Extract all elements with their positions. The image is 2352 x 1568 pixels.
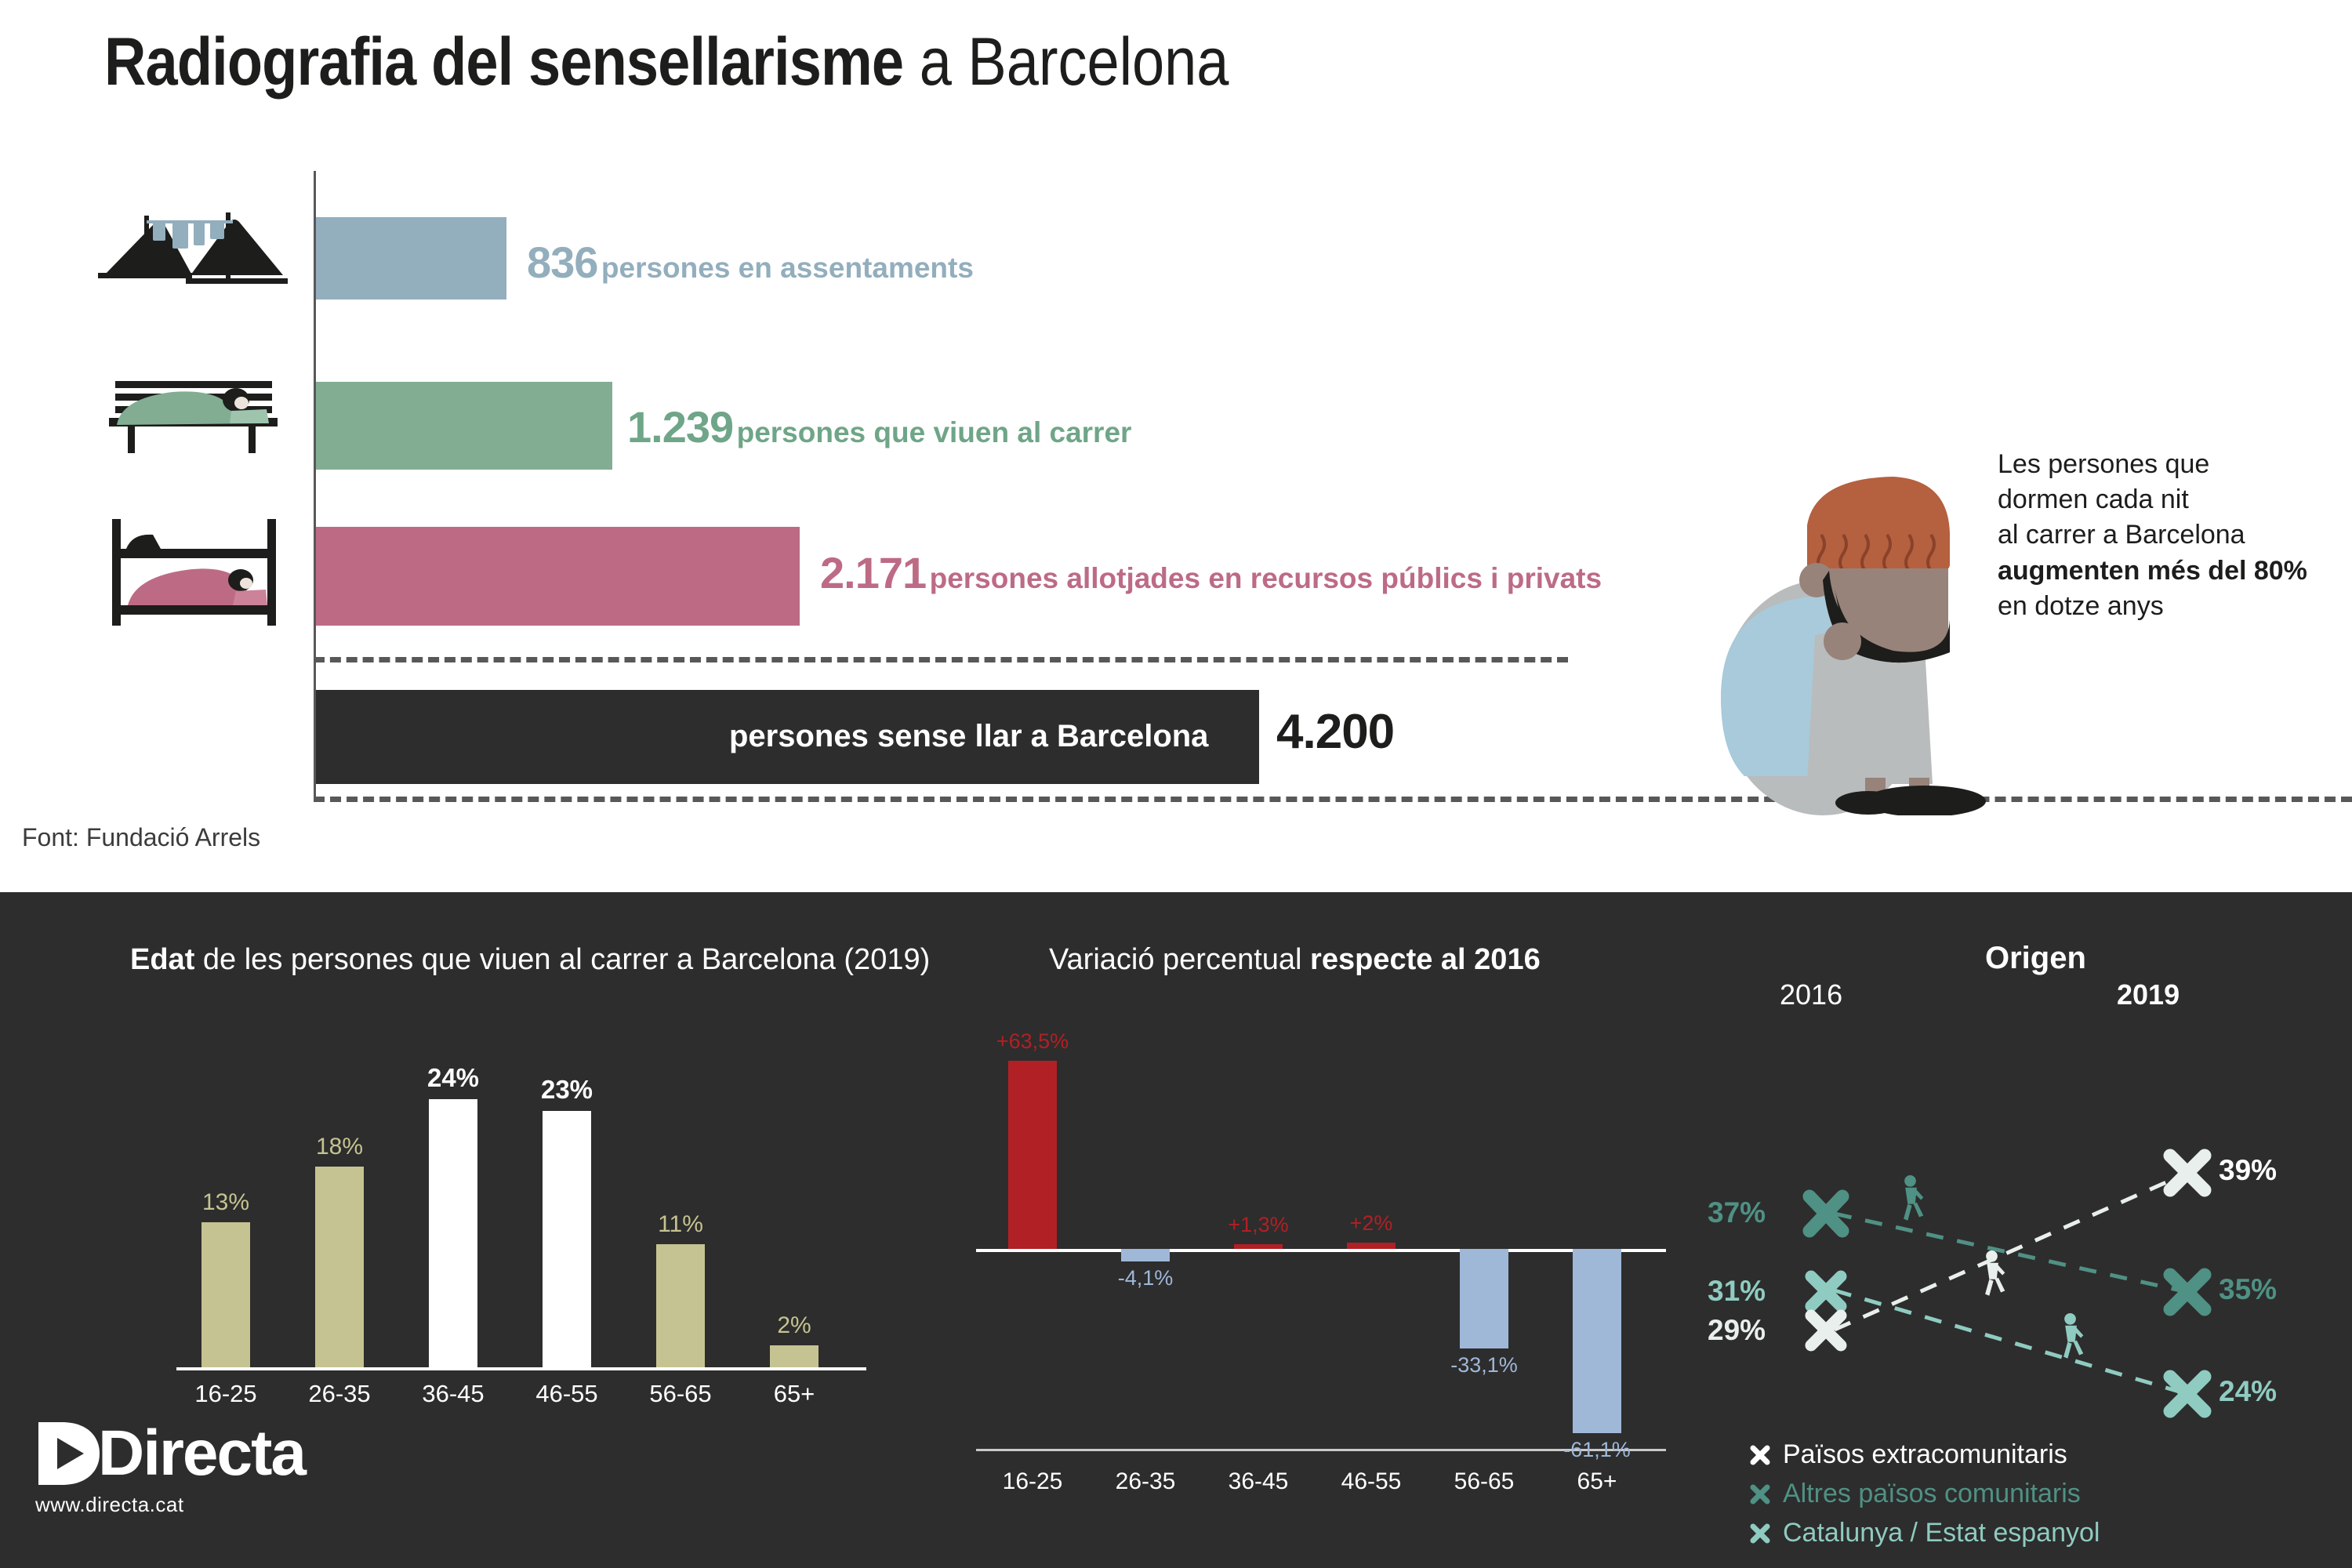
age-bar-26-35: 18% xyxy=(315,1167,364,1367)
variation-value-56-65: -33,1% xyxy=(1450,1353,1518,1377)
page-title: Radiografia del sensellarisme a Barcelon… xyxy=(104,28,1229,96)
age-bar-group-65+: 2%65+ xyxy=(770,1345,818,1367)
origen-2019-pct-catalunya: 24% xyxy=(2219,1375,2277,1408)
variation-col-56-65: -33,1%56-65 xyxy=(1428,1041,1541,1453)
directa-logo-url: www.directa.cat xyxy=(35,1493,305,1517)
page-title-light: a Barcelona xyxy=(903,24,1229,100)
age-category-46-55: 46-55 xyxy=(535,1380,597,1408)
age-bar-56-65: 11% xyxy=(656,1244,705,1367)
seated-person-illustration xyxy=(1697,439,2003,815)
variation-category-56-65: 56-65 xyxy=(1454,1468,1515,1495)
variation-col-46-55: +2%46-55 xyxy=(1315,1041,1428,1453)
age-category-26-35: 26-35 xyxy=(308,1380,370,1408)
variation-col-65+: -61,1%65+ xyxy=(1541,1041,1653,1453)
bar-label-carrer: 1.239 persones que viuen al carrer xyxy=(627,401,1131,452)
variation-category-16-25: 16-25 xyxy=(1003,1468,1063,1495)
age-category-36-45: 36-45 xyxy=(422,1380,484,1408)
x-marker-mint-icon xyxy=(1748,1522,1772,1545)
origen-2016-pct-comunitaris: 37% xyxy=(1708,1196,1766,1229)
bar-label-assentaments: 836 persones en assentaments xyxy=(527,237,974,288)
variation-category-26-35: 26-35 xyxy=(1116,1468,1176,1495)
age-bar-group-46-55: 23%46-55 xyxy=(543,1111,591,1367)
age-value-46-55: 23% xyxy=(541,1075,593,1105)
age-bar-36-45: 24% xyxy=(429,1099,477,1367)
directa-d-play-icon xyxy=(35,1419,103,1488)
variation-bar-65+ xyxy=(1573,1249,1621,1433)
side-note-line1: Les persones que xyxy=(1998,449,2209,479)
bar-text-assentaments: persones en assentaments xyxy=(601,252,974,284)
origen-legend: Països extracomunitaris Altres països co… xyxy=(1748,1439,2100,1557)
origen-2016-pct-extracomunitaris: 29% xyxy=(1708,1314,1766,1347)
variation-bar-36-45 xyxy=(1234,1244,1283,1249)
variation-value-26-35: -4,1% xyxy=(1118,1266,1174,1290)
variation-bar-56-65 xyxy=(1460,1249,1508,1348)
side-note-line3: al carrer a Barcelona xyxy=(1998,520,2245,550)
legend-item-extracomunitaris: Països extracomunitaris xyxy=(1748,1439,2100,1470)
bar-carrer xyxy=(316,382,612,470)
age-chart: 13%16-2518%26-3524%36-4523%46-5511%56-65… xyxy=(176,1018,866,1433)
age-category-56-65: 56-65 xyxy=(649,1380,711,1408)
age-value-56-65: 11% xyxy=(658,1211,703,1238)
bar-text-carrer: persones que viuen al carrer xyxy=(737,416,1132,448)
page-title-bold: Radiografia del sensellarisme xyxy=(104,24,903,100)
side-note-bold: augmenten més del 80% xyxy=(1998,556,2307,586)
age-chart-title: Edat de les persones que viuen al carrer… xyxy=(130,943,930,977)
directa-logo-text: Directa xyxy=(98,1423,305,1484)
variation-category-36-45: 36-45 xyxy=(1229,1468,1289,1495)
bar-recursos xyxy=(316,527,800,626)
variation-value-46-55: +2% xyxy=(1350,1211,1393,1236)
age-value-26-35: 18% xyxy=(316,1134,363,1160)
bottom-section: Edat de les persones que viuen al carrer… xyxy=(0,892,2352,1568)
variation-col-16-25: +63,5%16-25 xyxy=(976,1041,1089,1453)
bar-value-total: 4.200 xyxy=(1276,704,1394,760)
age-value-16-25: 13% xyxy=(202,1189,249,1216)
bar-value-recursos: 2.171 xyxy=(820,548,926,597)
infographic-page: Radiografia del sensellarisme a Barcelon… xyxy=(0,0,2352,1568)
age-bar-group-16-25: 13%16-25 xyxy=(201,1222,250,1367)
age-bar-16-25: 13% xyxy=(201,1222,250,1367)
age-bar-group-56-65: 11%56-65 xyxy=(656,1244,705,1367)
top-section: Radiografia del sensellarisme a Barcelon… xyxy=(0,0,2352,892)
bar-value-assentaments: 836 xyxy=(527,238,597,287)
side-note-line4: en dotze anys xyxy=(1998,591,2164,621)
variation-chart-title: Variació percentual respecte al 2016 xyxy=(1049,943,1541,977)
divider-dashed-upper xyxy=(314,657,1568,662)
bar-text-recursos: persones allotjades en recursos públics … xyxy=(930,562,1602,594)
variation-col-26-35: -4,1%26-35 xyxy=(1089,1041,1202,1453)
variation-bar-26-35 xyxy=(1121,1249,1170,1261)
x-marker-teal-icon xyxy=(1748,1483,1772,1506)
variation-category-46-55: 46-55 xyxy=(1341,1468,1402,1495)
variation-col-36-45: +1,3%36-45 xyxy=(1202,1041,1315,1453)
origen-2019-pct-extracomunitaris: 39% xyxy=(2219,1154,2277,1187)
legend-label-extracomunitaris: Països extracomunitaris xyxy=(1783,1439,2067,1470)
variation-value-16-25: +63,5% xyxy=(996,1029,1069,1054)
origen-2016-pct-catalunya: 31% xyxy=(1708,1275,1766,1308)
bar-assentaments xyxy=(316,217,506,299)
variation-value-36-45: +1,3% xyxy=(1228,1213,1288,1237)
origen-chart: 2016 2019 xyxy=(1748,978,2328,1551)
age-category-16-25: 16-25 xyxy=(194,1380,256,1408)
bench-sleeper-icon xyxy=(98,375,294,457)
bar-value-carrer: 1.239 xyxy=(627,402,733,452)
bar-label-recursos: 2.171 persones allotjades en recursos pú… xyxy=(820,547,1602,598)
variation-category-65+: 65+ xyxy=(1577,1468,1617,1495)
variation-value-65+: -61,1% xyxy=(1563,1438,1631,1462)
bar-text-total: persones sense llar a Barcelona xyxy=(729,719,1208,754)
age-chart-title-rest: de les persones que viuen al carrer a Ba… xyxy=(194,943,930,976)
bunk-bed-icon xyxy=(98,517,294,627)
variation-chart-title-light: Variació percentual xyxy=(1049,943,1301,976)
variation-bar-46-55 xyxy=(1347,1243,1396,1249)
legend-label-comunitaris: Altres països comunitaris xyxy=(1783,1479,2081,1509)
variation-bar-16-25 xyxy=(1008,1061,1057,1249)
side-note-line2: dormen cada nit xyxy=(1998,485,2189,514)
legend-item-comunitaris: Altres països comunitaris xyxy=(1748,1479,2100,1509)
age-chart-title-bold: Edat xyxy=(130,943,194,976)
variation-chart: +63,5%16-25-4,1%26-35+1,3%36-45+2%46-55-… xyxy=(976,1041,1666,1504)
divider-dashed-lower xyxy=(314,797,2352,802)
directa-wordmark: Directa xyxy=(35,1419,305,1488)
variation-chart-title-bold: respecte al 2016 xyxy=(1301,943,1540,976)
age-value-36-45: 24% xyxy=(427,1063,479,1093)
origen-chart-title: Origen xyxy=(1985,941,2086,976)
x-marker-white-icon xyxy=(1748,1443,1772,1467)
age-bar-46-55: 23% xyxy=(543,1111,591,1367)
side-note: Les persones que dormen cada nit al carr… xyxy=(1998,447,2335,624)
origen-2019-pct-comunitaris: 35% xyxy=(2219,1273,2277,1306)
legend-item-catalunya: Catalunya / Estat espanyol xyxy=(1748,1518,2100,1548)
age-bar-group-36-45: 24%36-45 xyxy=(429,1099,477,1367)
age-chart-baseline xyxy=(176,1367,866,1370)
age-bar-65+: 2% xyxy=(770,1345,818,1367)
legend-label-catalunya: Catalunya / Estat espanyol xyxy=(1783,1518,2100,1548)
age-bar-group-26-35: 18%26-35 xyxy=(315,1167,364,1367)
directa-logo[interactable]: Directa www.directa.cat xyxy=(35,1419,305,1517)
age-category-65+: 65+ xyxy=(774,1380,815,1408)
tents-icon xyxy=(98,208,294,294)
source-note: Font: Fundació Arrels xyxy=(22,823,260,852)
age-value-65+: 2% xyxy=(777,1312,811,1339)
